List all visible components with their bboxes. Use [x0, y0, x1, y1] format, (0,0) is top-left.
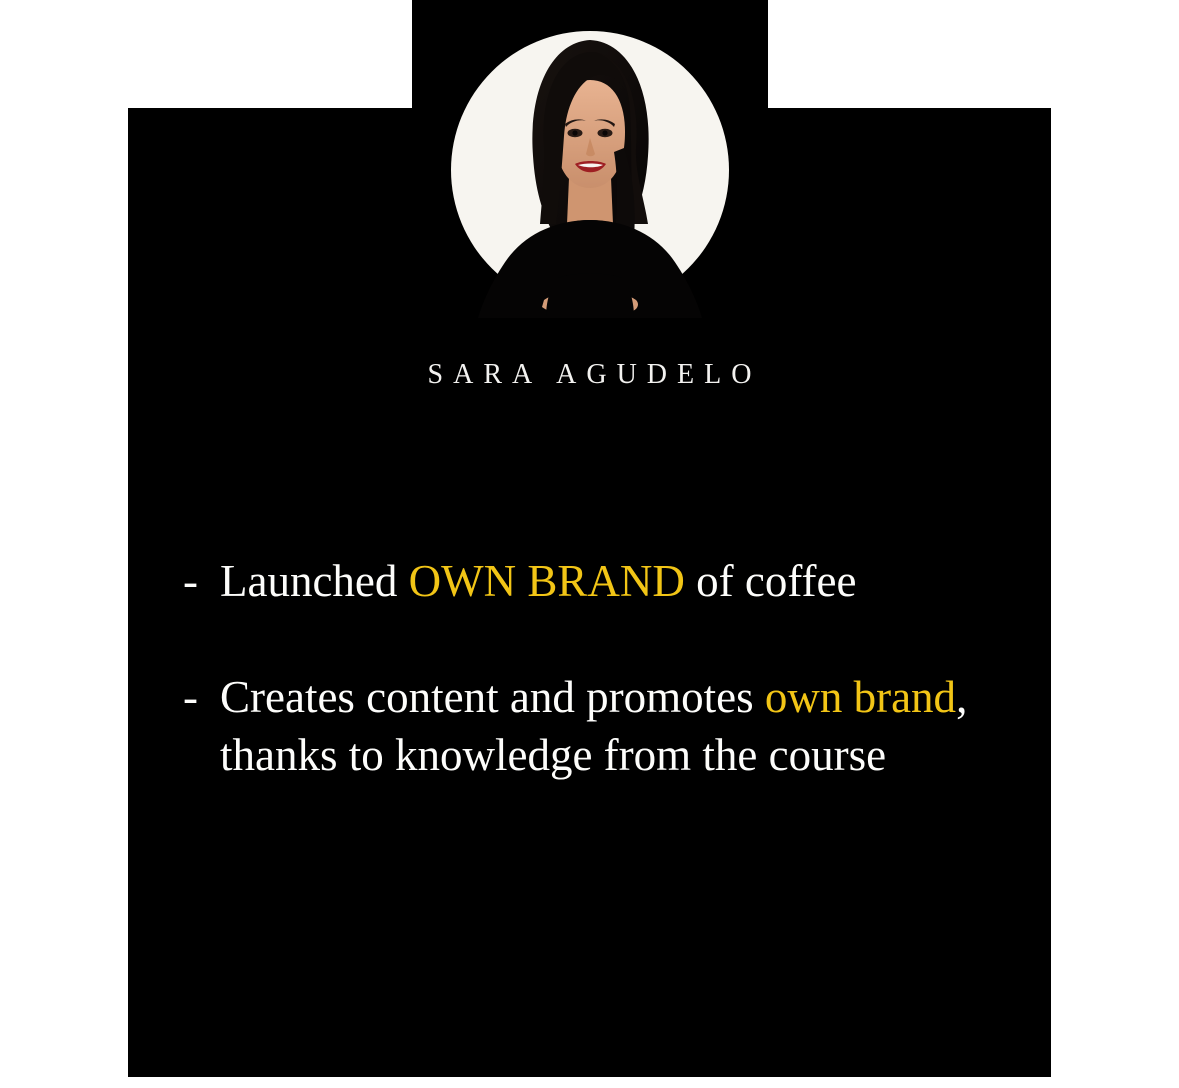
portrait-photo — [448, 28, 732, 318]
testimonial-slide: SARA AGUDELO - Launched OWN BRAND of cof… — [0, 0, 1179, 1088]
bullet-list: - Launched OWN BRAND of coffee - Creates… — [183, 552, 1023, 784]
bullet-marker: - — [183, 668, 198, 726]
bullet-text: Launched OWN BRAND of coffee — [220, 556, 856, 606]
highlighted-phrase: OWN BRAND — [409, 556, 685, 606]
list-item: - Launched OWN BRAND of coffee — [183, 552, 1023, 610]
plain-phrase: of coffee — [685, 556, 857, 606]
page-title: SARA AGUDELO — [128, 358, 1051, 392]
plain-phrase: Creates content and promotes — [220, 672, 765, 722]
list-item: - Creates content and promotes own brand… — [183, 668, 1023, 784]
bullet-text: Creates content and promotes own brand, … — [220, 672, 967, 780]
highlighted-phrase: own brand — [765, 672, 956, 722]
plain-phrase: Launched — [220, 556, 409, 606]
bullet-marker: - — [183, 552, 198, 610]
